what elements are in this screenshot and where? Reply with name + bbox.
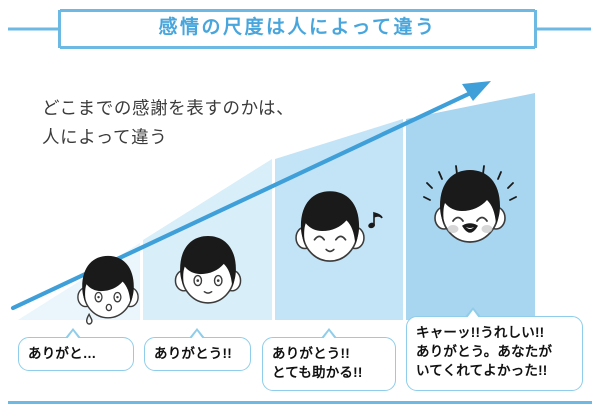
- speech-bubble-3[interactable]: ありがとう!! とても助かる!!: [262, 337, 396, 391]
- bubble-4-line-2: ありがとう。あなたが: [416, 342, 573, 361]
- face-left-pupil-1: [97, 296, 99, 298]
- bubble-tail-inner-3: [323, 331, 335, 339]
- bubble-tail-inner-1: [67, 331, 79, 339]
- bubble-3-line-2: とても助かる!!: [272, 363, 386, 382]
- bubble-tail-inner-2: [191, 331, 203, 339]
- speech-bubble-2[interactable]: ありがとう!!: [144, 337, 251, 371]
- speech-bubble-1[interactable]: ありがと…: [18, 337, 134, 371]
- face-right-blush-4: [482, 225, 493, 233]
- speech-bubble-4[interactable]: キャーッ!!うれしい!! ありがとう。あなたが いてくれてよかった!!: [406, 316, 583, 391]
- bottom-divider: [8, 401, 592, 404]
- face-right-pupil-1: [116, 296, 118, 298]
- bubble-4-line-3: いてくれてよかった!!: [416, 361, 573, 380]
- bubble-3-line-1: ありがとう!!: [272, 344, 386, 363]
- arrow-head: [462, 81, 491, 101]
- bubble-4-line-1: キャーッ!!うれしい!!: [416, 323, 573, 342]
- face-left-blush-4: [448, 225, 459, 233]
- bubble-tail-inner-4: [467, 310, 479, 318]
- face-left-pupil-2: [196, 279, 199, 282]
- bubble-2-line-1: ありがとう!!: [154, 344, 241, 363]
- face-right-pupil-2: [217, 279, 220, 282]
- bubble-1-line-1: ありがと…: [28, 344, 124, 363]
